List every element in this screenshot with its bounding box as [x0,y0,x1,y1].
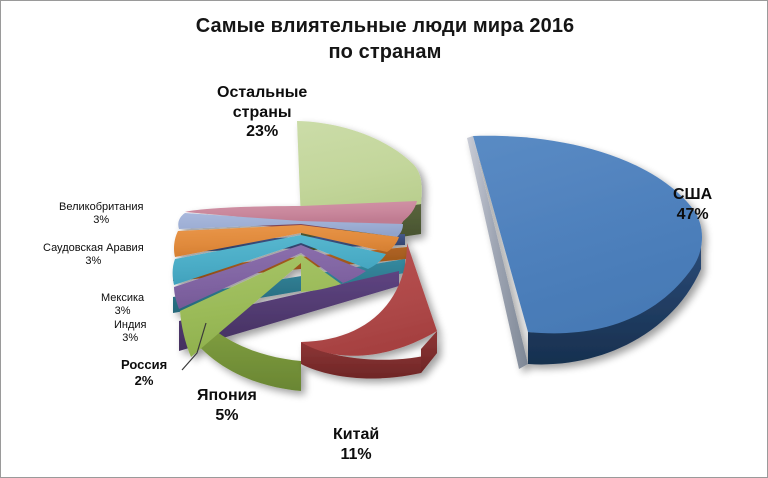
data-label-usa-value: 47% [673,205,712,225]
data-label-india: Индия 3% [114,319,147,346]
data-label-mexico: Мексика 3% [101,292,144,319]
data-label-china-name: Китай [333,425,379,445]
data-label-mexico-value: 3% [101,305,144,318]
pie-chart-image: Самые влиятельные люди мира 2016 по стра… [0,0,768,478]
data-label-japan-value: 5% [197,406,257,426]
data-label-usa-name: США [673,185,712,205]
data-label-other-countries: Остальные страны 23% [217,83,307,142]
data-label-united-kingdom: Великобритания 3% [59,201,143,228]
data-label-japan: Япония 5% [197,386,257,425]
data-label-russia: Россия 2% [121,357,167,389]
data-label-india-name: Индия [114,319,147,332]
data-label-other-name-1: Остальные [217,83,307,103]
data-label-india-value: 3% [114,332,147,345]
data-label-russia-value: 2% [121,373,167,389]
pie-svg [1,1,768,478]
data-label-other-value: 23% [217,122,307,142]
data-label-china: Китай 11% [333,425,379,464]
data-label-china-value: 11% [333,445,379,465]
data-label-usa: США 47% [673,185,712,224]
data-label-saudi-name: Саудовская Аравия [43,242,144,255]
data-label-saudi-value: 3% [43,255,144,268]
pie-slice-usa [467,136,702,369]
data-label-other-name-2: страны [217,103,307,123]
pie-stage [1,1,768,478]
data-label-russia-name: Россия [121,357,167,373]
data-label-uk-name: Великобритания [59,201,143,214]
data-label-uk-value: 3% [59,214,143,227]
data-label-japan-name: Япония [197,386,257,406]
data-label-mexico-name: Мексика [101,292,144,305]
data-label-saudi-arabia: Саудовская Аравия 3% [43,242,144,269]
